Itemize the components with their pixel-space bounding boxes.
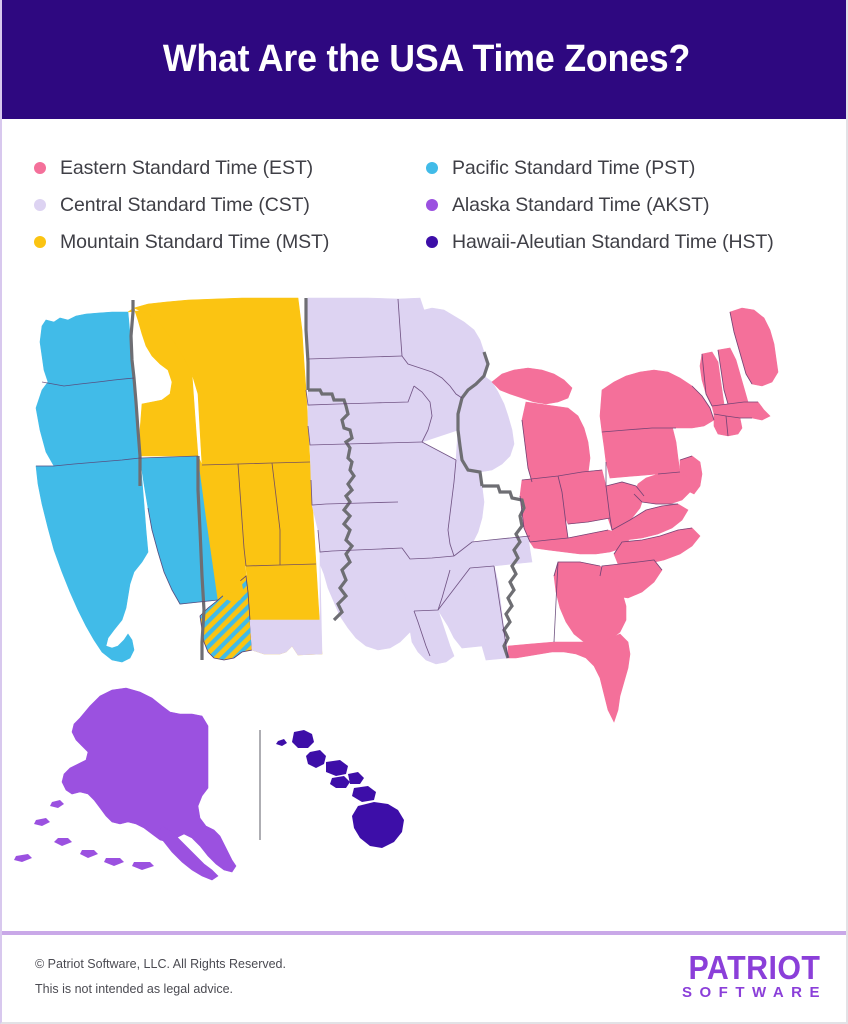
legend: Eastern Standard Time (EST) Central Stan… xyxy=(2,150,848,280)
legend-dot-pst-icon xyxy=(426,162,438,174)
map-zone-hawaii[interactable] xyxy=(276,730,404,848)
legend-column-left: Eastern Standard Time (EST) Central Stan… xyxy=(34,150,329,261)
legend-column-right: Pacific Standard Time (PST) Alaska Stand… xyxy=(426,150,774,261)
map-zone-alaska[interactable] xyxy=(14,688,236,880)
copyright-line: © Patriot Software, LLC. All Rights Rese… xyxy=(35,952,286,977)
legend-label-pst: Pacific Standard Time (PST) xyxy=(452,157,695,180)
legend-item-hst[interactable]: Hawaii-Aleutian Standard Time (HST) xyxy=(426,224,774,260)
legend-item-mst[interactable]: Mountain Standard Time (MST) xyxy=(34,224,329,260)
legend-label-akst: Alaska Standard Time (AKST) xyxy=(452,194,709,217)
legend-item-pst[interactable]: Pacific Standard Time (PST) xyxy=(426,150,774,186)
disclaimer-line: This is not intended as legal advice. xyxy=(35,977,286,1002)
legend-item-est[interactable]: Eastern Standard Time (EST) xyxy=(34,150,329,186)
map-container xyxy=(2,290,848,890)
legend-dot-akst-icon xyxy=(426,199,438,211)
legend-dot-est-icon xyxy=(34,162,46,174)
legend-label-mst: Mountain Standard Time (MST) xyxy=(60,231,329,254)
legend-label-cst: Central Standard Time (CST) xyxy=(60,194,310,217)
legend-label-est: Eastern Standard Time (EST) xyxy=(60,157,313,180)
legend-dot-hst-icon xyxy=(426,236,438,248)
header-banner: What Are the USA Time Zones? xyxy=(0,0,848,119)
footer-text-block: © Patriot Software, LLC. All Rights Rese… xyxy=(35,952,286,1002)
legend-dot-mst-icon xyxy=(34,236,46,248)
logo-wordmark: PATRIOT xyxy=(688,952,820,983)
page-title: What Are the USA Time Zones? xyxy=(162,38,689,81)
legend-item-cst[interactable]: Central Standard Time (CST) xyxy=(34,187,329,223)
legend-label-hst: Hawaii-Aleutian Standard Time (HST) xyxy=(452,231,774,254)
infographic-canvas: What Are the USA Time Zones? Eastern Sta… xyxy=(0,0,848,1024)
map-zone-eastern[interactable] xyxy=(492,308,778,722)
footer: © Patriot Software, LLC. All Rights Rese… xyxy=(2,935,848,1024)
legend-item-akst[interactable]: Alaska Standard Time (AKST) xyxy=(426,187,774,223)
usa-timezone-map[interactable] xyxy=(2,290,848,890)
patriot-software-logo[interactable]: PATRIOT SOFTWARE xyxy=(677,952,820,1002)
legend-dot-cst-icon xyxy=(34,199,46,211)
